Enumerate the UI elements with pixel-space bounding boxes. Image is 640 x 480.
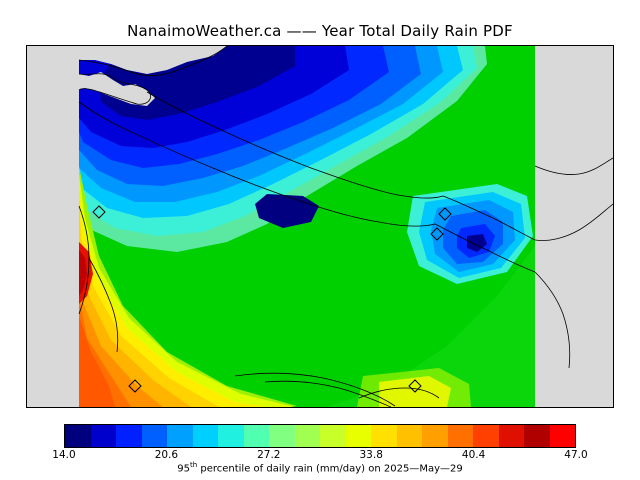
caption-post: percentile of daily rain (mm/day) on 202…: [197, 463, 463, 474]
colorbar-tick-label: 20.6: [155, 449, 178, 461]
colorbar-cells: [64, 424, 576, 448]
colorbar-cell-13: [397, 425, 423, 447]
colorbar-cell-4: [167, 425, 193, 447]
contour-map: [27, 46, 613, 407]
colorbar-cell-10: [320, 425, 346, 447]
colorbar-tick-label: 33.8: [359, 449, 382, 461]
colorbar: [64, 424, 576, 448]
map-plot-area: [26, 45, 614, 408]
colorbar-cell-16: [473, 425, 499, 447]
colorbar-caption: 95th percentile of daily rain (mm/day) o…: [0, 461, 640, 474]
colorbar-cell-3: [142, 425, 168, 447]
colorbar-tick-label: 40.4: [462, 449, 485, 461]
chart-title: NanaimoWeather.ca —— Year Total Daily Ra…: [0, 22, 640, 40]
colorbar-cell-19: [550, 425, 576, 447]
land-east-mainland: [535, 46, 613, 407]
colorbar-cell-12: [371, 425, 397, 447]
colorbar-cell-8: [269, 425, 295, 447]
colorbar-tick-label: 27.2: [257, 449, 280, 461]
colorbar-cell-18: [524, 425, 550, 447]
colorbar-tick-label: 47.0: [564, 449, 587, 461]
colorbar-cell-6: [218, 425, 244, 447]
colorbar-cell-9: [295, 425, 321, 447]
colorbar-cell-11: [346, 425, 372, 447]
colorbar-cell-1: [91, 425, 117, 447]
caption-pre: 95: [177, 463, 190, 474]
colorbar-cell-7: [244, 425, 270, 447]
colorbar-cell-5: [193, 425, 219, 447]
colorbar-cell-14: [422, 425, 448, 447]
colorbar-cell-15: [448, 425, 474, 447]
colorbar-cell-2: [116, 425, 142, 447]
colorbar-tick-label: 14.0: [52, 449, 75, 461]
colorbar-cell-17: [499, 425, 525, 447]
chart-page: NanaimoWeather.ca —— Year Total Daily Ra…: [0, 0, 640, 480]
colorbar-cell-0: [65, 425, 91, 447]
